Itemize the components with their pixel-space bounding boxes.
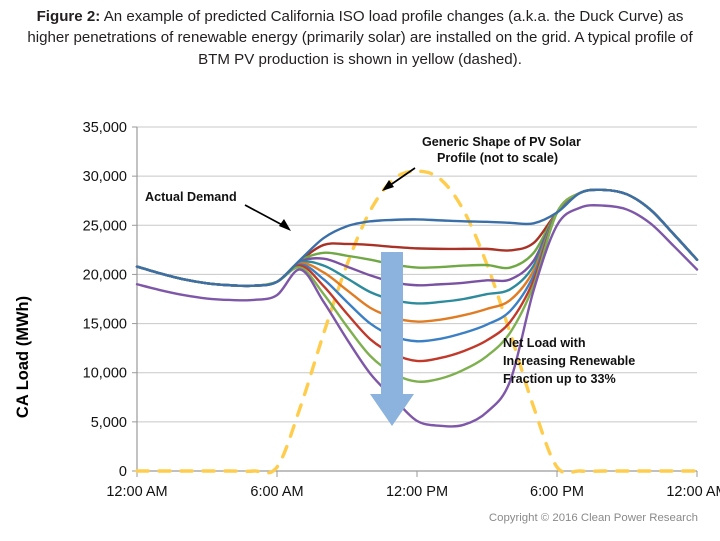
net-load-label-line1: Net Load with	[503, 336, 586, 350]
figure-caption-label: Figure 2:	[37, 8, 101, 25]
annotation-pv-profile: Generic Shape of PV Solar Profile (not t…	[382, 135, 581, 191]
y-axis-tick-label: 30,000	[83, 169, 127, 185]
x-axis-tick-label: 6:00 AM	[250, 484, 303, 500]
y-axis-tick-label: 10,000	[83, 366, 127, 382]
series-line	[137, 190, 697, 286]
y-axis-tick-label: 25,000	[83, 218, 127, 234]
figure-caption: Figure 2: An example of predicted Califo…	[22, 6, 698, 70]
x-axis-tick-label: 12:00 AM	[106, 484, 167, 500]
y-axis-title: CA Load (MWh)	[14, 296, 32, 418]
x-axis-tick-label: 12:00 AM	[666, 484, 720, 500]
series-line	[137, 190, 697, 286]
figure-caption-text: An example of predicted California ISO l…	[27, 8, 692, 68]
series-line	[137, 205, 697, 426]
annotation-net-load: Net Load with Increasing Renewable Fract…	[503, 336, 635, 386]
y-axis-tick-label: 5,000	[91, 415, 127, 431]
x-axis-tick-label: 6:00 PM	[530, 484, 584, 500]
series-line	[137, 190, 697, 322]
y-axis-tick-label: 0	[119, 464, 127, 480]
gridlines	[132, 127, 697, 477]
series-line	[137, 190, 697, 286]
figure-container: Figure 2: An example of predicted Califo…	[0, 0, 720, 541]
series-line	[137, 190, 697, 286]
duck-curve-chart: 05,00010,00015,00020,00025,00030,00035,0…	[0, 104, 720, 541]
y-axis-tick-label: 20,000	[83, 267, 127, 283]
net-load-label-line3: Fraction up to 33%	[503, 372, 616, 386]
y-axis-tick-labels: 05,00010,00015,00020,00025,00030,00035,0…	[83, 120, 127, 480]
x-axis-tick-labels: 12:00 AM6:00 AM12:00 PM6:00 PM12:00 AM	[106, 484, 720, 500]
chart-container: 05,00010,00015,00020,00025,00030,00035,0…	[0, 104, 720, 541]
series-line	[137, 190, 697, 342]
net-load-label-line2: Increasing Renewable	[503, 354, 635, 368]
x-axis-tick-label: 12:00 PM	[386, 484, 448, 500]
copyright-notice: Copyright © 2016 Clean Power Research	[489, 512, 698, 524]
actual-demand-label: Actual Demand	[145, 190, 237, 204]
pv-profile-label-line1: Generic Shape of PV Solar	[422, 135, 581, 149]
y-axis-tick-label: 35,000	[83, 120, 127, 136]
pv-profile-label-line2: Profile (not to scale)	[437, 151, 558, 165]
y-axis-tick-label: 15,000	[83, 317, 127, 333]
series-line	[137, 190, 697, 361]
data-series-layer	[137, 171, 697, 473]
